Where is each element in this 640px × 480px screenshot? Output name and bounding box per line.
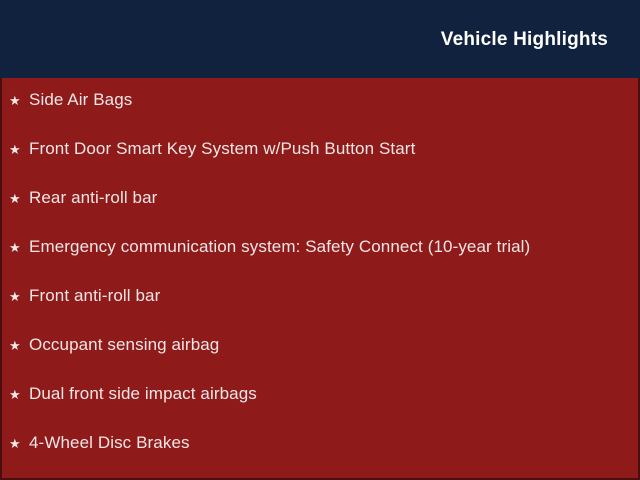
slide-header: Vehicle Highlights xyxy=(0,0,640,78)
star-bullet-icon: ★ xyxy=(9,290,29,303)
vehicle-highlights-list: ★ Side Air Bags ★ Front Door Smart Key S… xyxy=(0,91,640,480)
vehicle-highlights-slide: Vehicle Highlights ★ Side Air Bags ★ Fro… xyxy=(0,0,640,480)
page-title: Vehicle Highlights xyxy=(441,30,608,49)
star-bullet-icon: ★ xyxy=(9,388,29,401)
highlight-label: 4-Wheel Disc Brakes xyxy=(29,434,190,451)
list-item: ★ Rear anti-roll bar xyxy=(0,189,640,238)
list-item: ★ 4-Wheel Disc Brakes xyxy=(0,434,640,480)
star-bullet-icon: ★ xyxy=(9,437,29,450)
slide-body: ★ Side Air Bags ★ Front Door Smart Key S… xyxy=(0,78,640,480)
list-item: ★ Occupant sensing airbag xyxy=(0,336,640,385)
star-bullet-icon: ★ xyxy=(9,241,29,254)
star-bullet-icon: ★ xyxy=(9,143,29,156)
highlight-label: Dual front side impact airbags xyxy=(29,385,257,402)
star-bullet-icon: ★ xyxy=(9,94,29,107)
list-item: ★ Side Air Bags xyxy=(0,91,640,140)
highlight-label: Side Air Bags xyxy=(29,91,132,108)
highlight-label: Emergency communication system: Safety C… xyxy=(29,238,530,255)
highlight-label: Front anti-roll bar xyxy=(29,287,160,304)
star-bullet-icon: ★ xyxy=(9,339,29,352)
list-item: ★ Dual front side impact airbags xyxy=(0,385,640,434)
list-item: ★ Front Door Smart Key System w/Push But… xyxy=(0,140,640,189)
list-item: ★ Emergency communication system: Safety… xyxy=(0,238,640,287)
highlight-label: Occupant sensing airbag xyxy=(29,336,219,353)
list-item: ★ Front anti-roll bar xyxy=(0,287,640,336)
highlight-label: Front Door Smart Key System w/Push Butto… xyxy=(29,140,415,157)
highlight-label: Rear anti-roll bar xyxy=(29,189,157,206)
star-bullet-icon: ★ xyxy=(9,192,29,205)
